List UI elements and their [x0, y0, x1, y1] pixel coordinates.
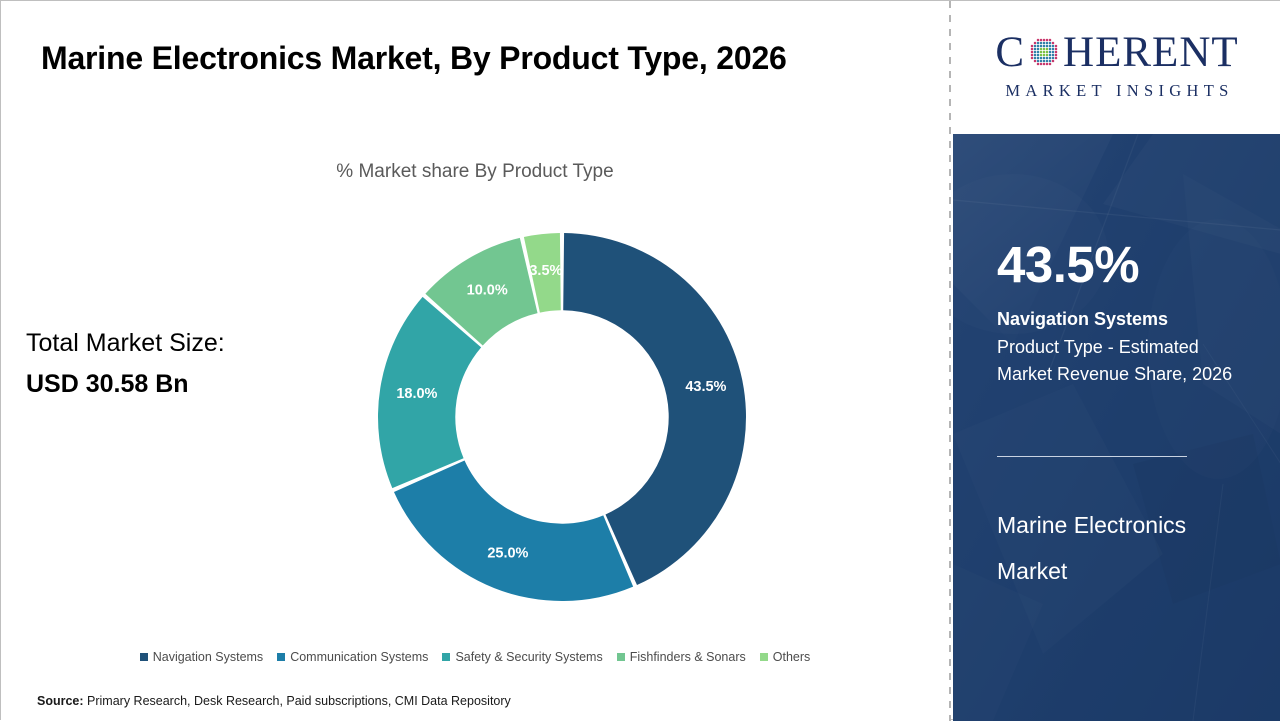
- chart-legend: Navigation SystemsCommunication SystemsS…: [1, 650, 949, 664]
- legend-swatch-icon: [760, 653, 768, 661]
- company-logo: C HERENT MARKET INSIGHTS: [953, 1, 1280, 134]
- legend-label: Communication Systems: [290, 650, 428, 664]
- donut-slice-group: [378, 233, 746, 601]
- legend-swatch-icon: [140, 653, 148, 661]
- donut-chart-svg: 43.5%25.0%18.0%10.0%3.5%: [376, 231, 748, 603]
- donut-slice: [394, 460, 633, 601]
- highlight-percent: 43.5%: [997, 239, 1139, 290]
- legend-label: Safety & Security Systems: [455, 650, 602, 664]
- total-market-size-value: USD 30.58 Bn: [26, 364, 225, 405]
- chart-subtitle: % Market share By Product Type: [1, 161, 949, 183]
- legend-item[interactable]: Fishfinders & Sonars: [617, 650, 746, 664]
- legend-label: Navigation Systems: [153, 650, 263, 664]
- donut-slice-label: 3.5%: [529, 263, 562, 279]
- donut-slice-label: 18.0%: [396, 386, 437, 402]
- legend-label: Fishfinders & Sonars: [630, 650, 746, 664]
- right-sidebar-panel: C HERENT MARKET INSIGHTS: [953, 1, 1280, 721]
- legend-item[interactable]: Communication Systems: [277, 650, 428, 664]
- legend-item[interactable]: Navigation Systems: [140, 650, 263, 664]
- donut-slice-label: 10.0%: [467, 282, 508, 298]
- source-label: Source:: [37, 694, 84, 708]
- highlight-market-name: Marine Electronics Market: [997, 502, 1257, 594]
- panel-background-texture: [953, 134, 1280, 721]
- left-content-panel: Marine Electronics Market, By Product Ty…: [1, 1, 949, 721]
- highlight-divider-rule: [997, 456, 1187, 457]
- legend-swatch-icon: [277, 653, 285, 661]
- highlight-panel: 43.5% Navigation Systems Product Type - …: [953, 134, 1280, 721]
- donut-slice-label: 25.0%: [487, 545, 528, 561]
- donut-slice-label: 43.5%: [685, 379, 726, 395]
- highlight-description: Product Type - Estimated Market Revenue …: [997, 334, 1255, 389]
- legend-item[interactable]: Safety & Security Systems: [442, 650, 602, 664]
- legend-label: Others: [773, 650, 811, 664]
- dotted-globe-icon: [1026, 34, 1062, 70]
- total-market-size-block: Total Market Size: USD 30.58 Bn: [26, 323, 225, 404]
- logo-letter-c: C: [995, 31, 1025, 74]
- page-title: Marine Electronics Market, By Product Ty…: [41, 33, 861, 84]
- highlight-category: Navigation Systems: [997, 309, 1168, 330]
- donut-chart: 43.5%25.0%18.0%10.0%3.5%: [376, 231, 748, 603]
- logo-letters-herent: HERENT: [1063, 31, 1239, 74]
- legend-swatch-icon: [617, 653, 625, 661]
- logo-wordmark: C HERENT: [995, 31, 1238, 74]
- total-market-size-label: Total Market Size:: [26, 323, 225, 364]
- infographic-canvas: Marine Electronics Market, By Product Ty…: [0, 0, 1280, 720]
- source-text: Primary Research, Desk Research, Paid su…: [84, 694, 511, 708]
- legend-swatch-icon: [442, 653, 450, 661]
- logo-subtext: MARKET INSIGHTS: [1000, 81, 1233, 101]
- legend-item[interactable]: Others: [760, 650, 811, 664]
- panel-divider: [949, 1, 951, 721]
- source-line: Source: Primary Research, Desk Research,…: [37, 694, 511, 708]
